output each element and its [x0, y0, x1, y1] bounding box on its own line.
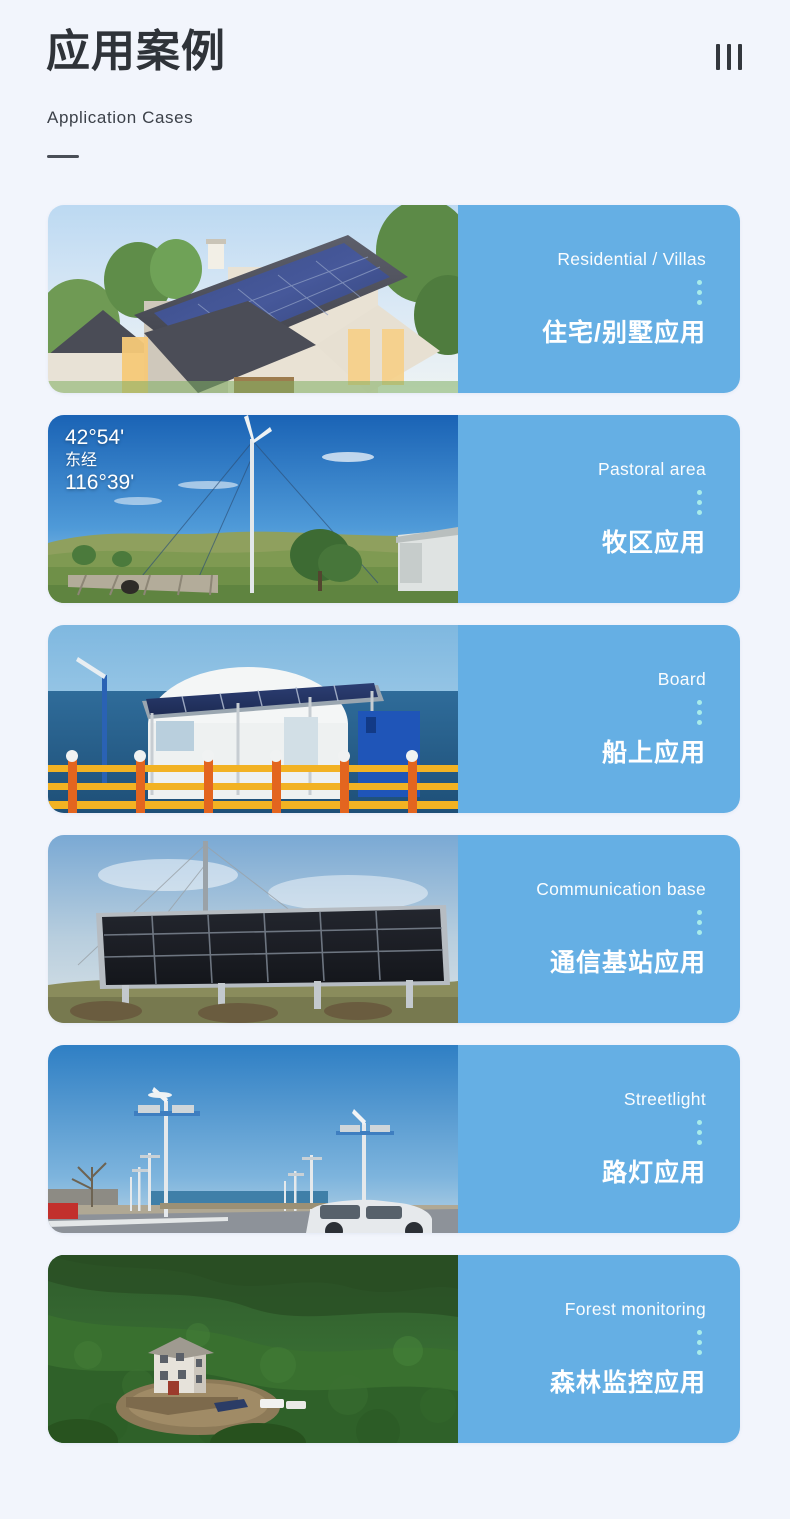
case-label-en: Communication base — [536, 879, 706, 900]
case-card[interactable]: Forest monitoring 森林监控应用 — [48, 1255, 740, 1443]
case-label-zh: 路灯应用 — [602, 1153, 706, 1189]
case-label-zh: 船上应用 — [602, 733, 706, 769]
case-label-zh: 牧区应用 — [602, 523, 706, 559]
overlay-line-3: 116°39' — [65, 471, 134, 494]
dot-2 — [697, 710, 702, 715]
case-label-en: Pastoral area — [598, 459, 706, 480]
case-panel: Board 船上应用 — [458, 625, 740, 813]
case-card-list: Residential / Villas 住宅/别墅应用 — [0, 205, 790, 1465]
case-label-zh: 通信基站应用 — [550, 943, 706, 979]
dot-2 — [697, 1340, 702, 1345]
case-panel: Pastoral area 牧区应用 — [458, 415, 740, 603]
case-label-en: Streetlight — [624, 1089, 706, 1110]
case-panel: Streetlight 路灯应用 — [458, 1045, 740, 1233]
page-title: 应用案例 — [46, 27, 226, 78]
three-dots-icon — [697, 1330, 702, 1355]
case-image-residential — [48, 205, 458, 393]
dot-3 — [697, 1140, 702, 1145]
title-divider — [47, 155, 79, 158]
case-label-zh: 住宅/别墅应用 — [542, 313, 706, 349]
three-dots-icon — [697, 910, 702, 935]
case-image-pastoral: 42°54' 东经 116°39' — [48, 415, 458, 603]
dot-2 — [697, 500, 702, 505]
dot-1 — [697, 700, 702, 705]
dot-1 — [697, 490, 702, 495]
page-subtitle: Application Cases — [47, 108, 193, 128]
dot-3 — [697, 300, 702, 305]
case-image-streetlight — [48, 1045, 458, 1233]
three-dots-icon — [697, 280, 702, 305]
three-dots-icon — [697, 490, 702, 515]
overlay-line-1: 42°54' — [65, 426, 124, 449]
case-image-communication-base — [48, 835, 458, 1023]
case-label-zh: 森林监控应用 — [550, 1363, 706, 1399]
overlay-line-2: 东经 — [65, 451, 134, 471]
dot-3 — [697, 930, 702, 935]
image-coordinate-overlay: 42°54' 东经 116°39' — [65, 425, 134, 496]
dot-3 — [697, 720, 702, 725]
case-card[interactable]: 42°54' 东经 116°39' Pastoral area 牧区应用 — [48, 415, 740, 603]
dot-1 — [697, 910, 702, 915]
case-card[interactable]: Communication base 通信基站应用 — [48, 835, 740, 1023]
three-vertical-bars-icon[interactable] — [716, 44, 742, 70]
page-header: 应用案例 Application Cases — [0, 0, 790, 190]
three-dots-icon — [697, 1120, 702, 1145]
dot-3 — [697, 510, 702, 515]
application-cases-page: 应用案例 Application Cases — [0, 0, 790, 1519]
menu-bar-2 — [727, 44, 731, 70]
case-panel: Forest monitoring 森林监控应用 — [458, 1255, 740, 1443]
case-panel: Residential / Villas 住宅/别墅应用 — [458, 205, 740, 393]
three-dots-icon — [697, 700, 702, 725]
dot-2 — [697, 1130, 702, 1135]
dot-3 — [697, 1350, 702, 1355]
case-card[interactable]: Board 船上应用 — [48, 625, 740, 813]
case-label-en: Residential / Villas — [557, 249, 706, 270]
dot-1 — [697, 1330, 702, 1335]
case-panel: Communication base 通信基站应用 — [458, 835, 740, 1023]
menu-bar-3 — [738, 44, 742, 70]
menu-bar-1 — [716, 44, 720, 70]
dot-1 — [697, 280, 702, 285]
case-label-en: Board — [658, 669, 706, 690]
case-card[interactable]: Residential / Villas 住宅/别墅应用 — [48, 205, 740, 393]
case-image-board — [48, 625, 458, 813]
case-label-en: Forest monitoring — [565, 1299, 706, 1320]
dot-2 — [697, 920, 702, 925]
case-image-forest-monitoring — [48, 1255, 458, 1443]
dot-1 — [697, 1120, 702, 1125]
dot-2 — [697, 290, 702, 295]
case-card[interactable]: Streetlight 路灯应用 — [48, 1045, 740, 1233]
